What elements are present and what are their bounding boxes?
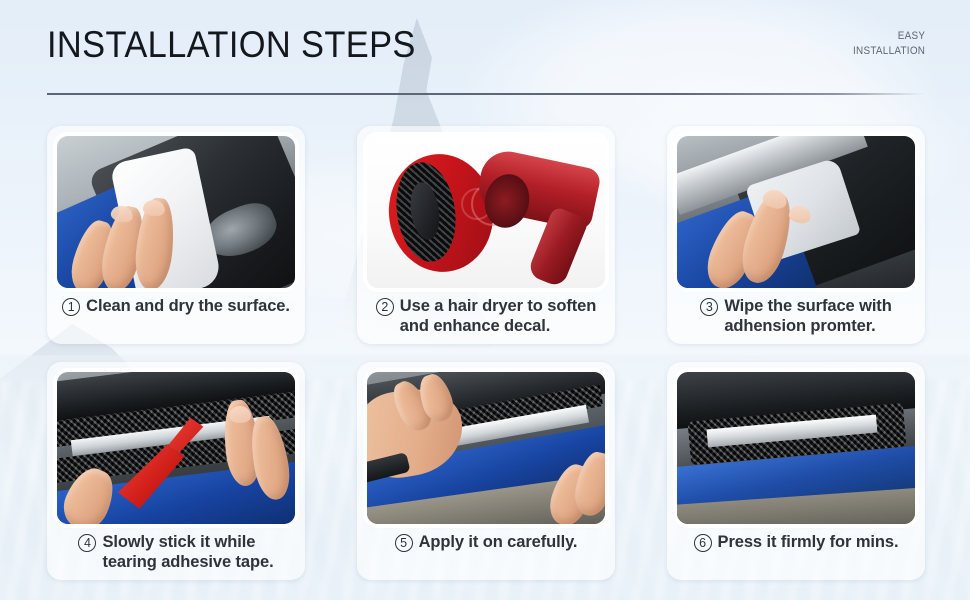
step-text-2-line-1: Use a hair dryer to soften — [400, 297, 596, 315]
step-text-4-line-2: tearing adhesive tape. — [102, 553, 273, 571]
tagline-line-1: EASY — [853, 29, 925, 44]
step-text-2: Use a hair dryer to soften and enhance d… — [400, 296, 596, 336]
photo-press-firmly — [677, 372, 915, 524]
step-caption-3: 3 Wipe the surface with adhension promte… — [673, 296, 919, 336]
step-card-1: 1 Clean and dry the surface. — [47, 126, 305, 344]
photo-apply-carefully — [367, 372, 605, 524]
step-card-6: 6 Press it firmly for mins. — [667, 362, 925, 580]
step-text-3-line-1: Wipe the surface with — [724, 297, 891, 315]
step-text-5: Apply it on carefully. — [419, 532, 578, 552]
step-text-3: Wipe the surface with adhension promter. — [724, 296, 891, 336]
step-card-2: 2 Use a hair dryer to soften and enhance… — [357, 126, 615, 344]
photo-clean-dry-surface — [57, 136, 295, 288]
step-text-3-line-2: adhension promter. — [724, 317, 875, 335]
photo-wipe-adhesion-promoter — [677, 136, 915, 288]
step-caption-6: 6 Press it firmly for mins. — [673, 532, 919, 552]
step-caption-4: 4 Slowly stick it while tearing adhesive… — [53, 532, 299, 572]
tagline-line-2: INSTALLATION — [853, 44, 925, 59]
step-text-4-line-1: Slowly stick it while — [102, 533, 255, 551]
step-number-5: 5 — [395, 534, 413, 552]
step-number-4: 4 — [78, 534, 96, 552]
step-caption-2: 2 Use a hair dryer to soften and enhance… — [363, 296, 609, 336]
step-number-3: 3 — [700, 298, 718, 316]
title-divider — [47, 93, 925, 95]
step-card-3: 3 Wipe the surface with adhension promte… — [667, 126, 925, 344]
step-text-4: Slowly stick it while tearing adhesive t… — [102, 532, 273, 572]
step-text-2-line-2: and enhance decal. — [400, 317, 550, 335]
installation-steps-infographic: INSTALLATION STEPS EASY INSTALLATION — [0, 0, 970, 600]
header: INSTALLATION STEPS EASY INSTALLATION — [0, 0, 970, 110]
step-card-4: 4 Slowly stick it while tearing adhesive… — [47, 362, 305, 580]
tagline: EASY INSTALLATION — [853, 29, 925, 59]
steps-grid: 1 Clean and dry the surface. — [47, 126, 925, 580]
step-caption-5: 5 Apply it on carefully. — [363, 532, 609, 552]
photo-stick-tear-tape — [57, 372, 295, 524]
step-number-2: 2 — [376, 298, 394, 316]
page-title: INSTALLATION STEPS — [47, 23, 416, 67]
step-text-1: Clean and dry the surface. — [86, 296, 290, 316]
photo-hair-dryer-roll — [367, 136, 605, 288]
step-number-1: 1 — [62, 298, 80, 316]
step-caption-1: 1 Clean and dry the surface. — [53, 296, 299, 316]
step-text-6: Press it firmly for mins. — [718, 532, 899, 552]
step-card-5: 5 Apply it on carefully. — [357, 362, 615, 580]
step-number-6: 6 — [694, 534, 712, 552]
